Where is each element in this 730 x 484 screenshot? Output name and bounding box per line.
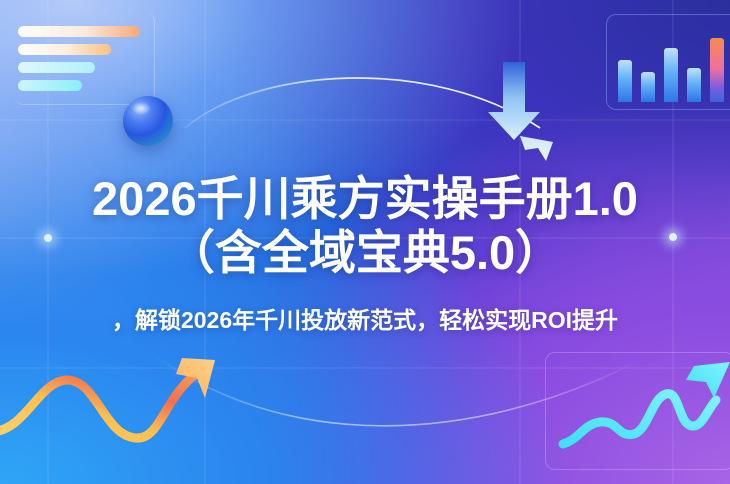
curved-arrow-path — [185, 78, 540, 128]
down-arrow-icon — [488, 62, 540, 140]
poster-canvas: 2026千川乘方实操手册1.0 （含全域宝典5.0） ，解锁2026年千川投放新… — [0, 0, 730, 484]
title-line-2: （含全域宝典5.0） — [0, 226, 730, 280]
curved-arrow-head — [520, 136, 553, 161]
growth-line-orange — [0, 358, 215, 438]
page-subtitle: ，解锁2026年千川投放新范式，轻松实现ROI提升 — [0, 305, 730, 335]
page-title: 2026千川乘方实操手册1.0 （含全域宝典5.0） — [0, 172, 730, 280]
title-line-1: 2026千川乘方实操手册1.0 — [92, 172, 638, 225]
growth-card — [545, 352, 730, 470]
